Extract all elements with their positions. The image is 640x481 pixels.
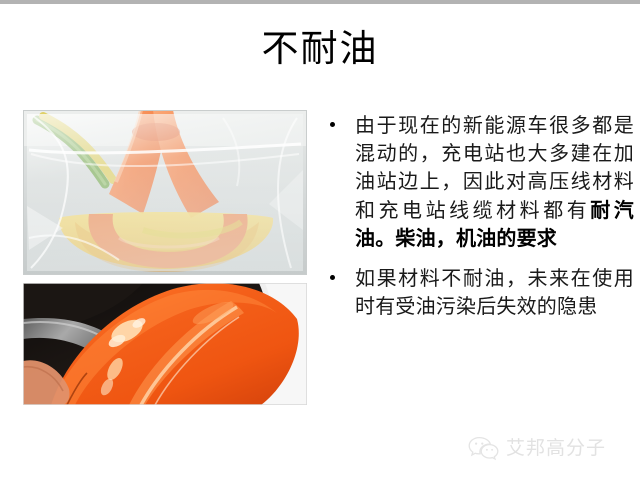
wechat-icon-graphic (468, 436, 499, 462)
watermark: 艾邦高分子 (468, 436, 606, 462)
watermark-label: 艾邦高分子 (506, 438, 606, 460)
swollen-cable-jacket-graphic (23, 283, 307, 405)
swollen-cable-jacket-photo (23, 283, 307, 405)
bullet-text-1: 由于现在的新能源车很多都是混动的，充电站也大多建在加油站边上，因此对高压线材料和… (355, 112, 634, 253)
list-item: 由于现在的新能源车很多都是混动的，充电站也大多建在加油站边上，因此对高压线材料和… (326, 112, 634, 253)
top-rule (0, 0, 640, 4)
wechat-icon (468, 436, 499, 462)
cable-in-oil-bag-graphic (23, 110, 307, 275)
cable-in-oil-bag-photo (23, 110, 307, 275)
bullet-2-plain: 如果材料不耐油，未来在使用时有受油污染后失效的隐患 (355, 268, 634, 318)
bullet-list: 由于现在的新能源车很多都是混动的，充电站也大多建在加油站边上，因此对高压线材料和… (326, 112, 634, 333)
bullet-marker-icon (330, 275, 335, 280)
bullet-marker-icon (330, 122, 335, 127)
list-item: 如果材料不耐油，未来在使用时有受油污染后失效的隐患 (326, 265, 634, 321)
bullet-text-2: 如果材料不耐油，未来在使用时有受油污染后失效的隐患 (355, 265, 634, 321)
page-title: 不耐油 (0, 28, 640, 72)
